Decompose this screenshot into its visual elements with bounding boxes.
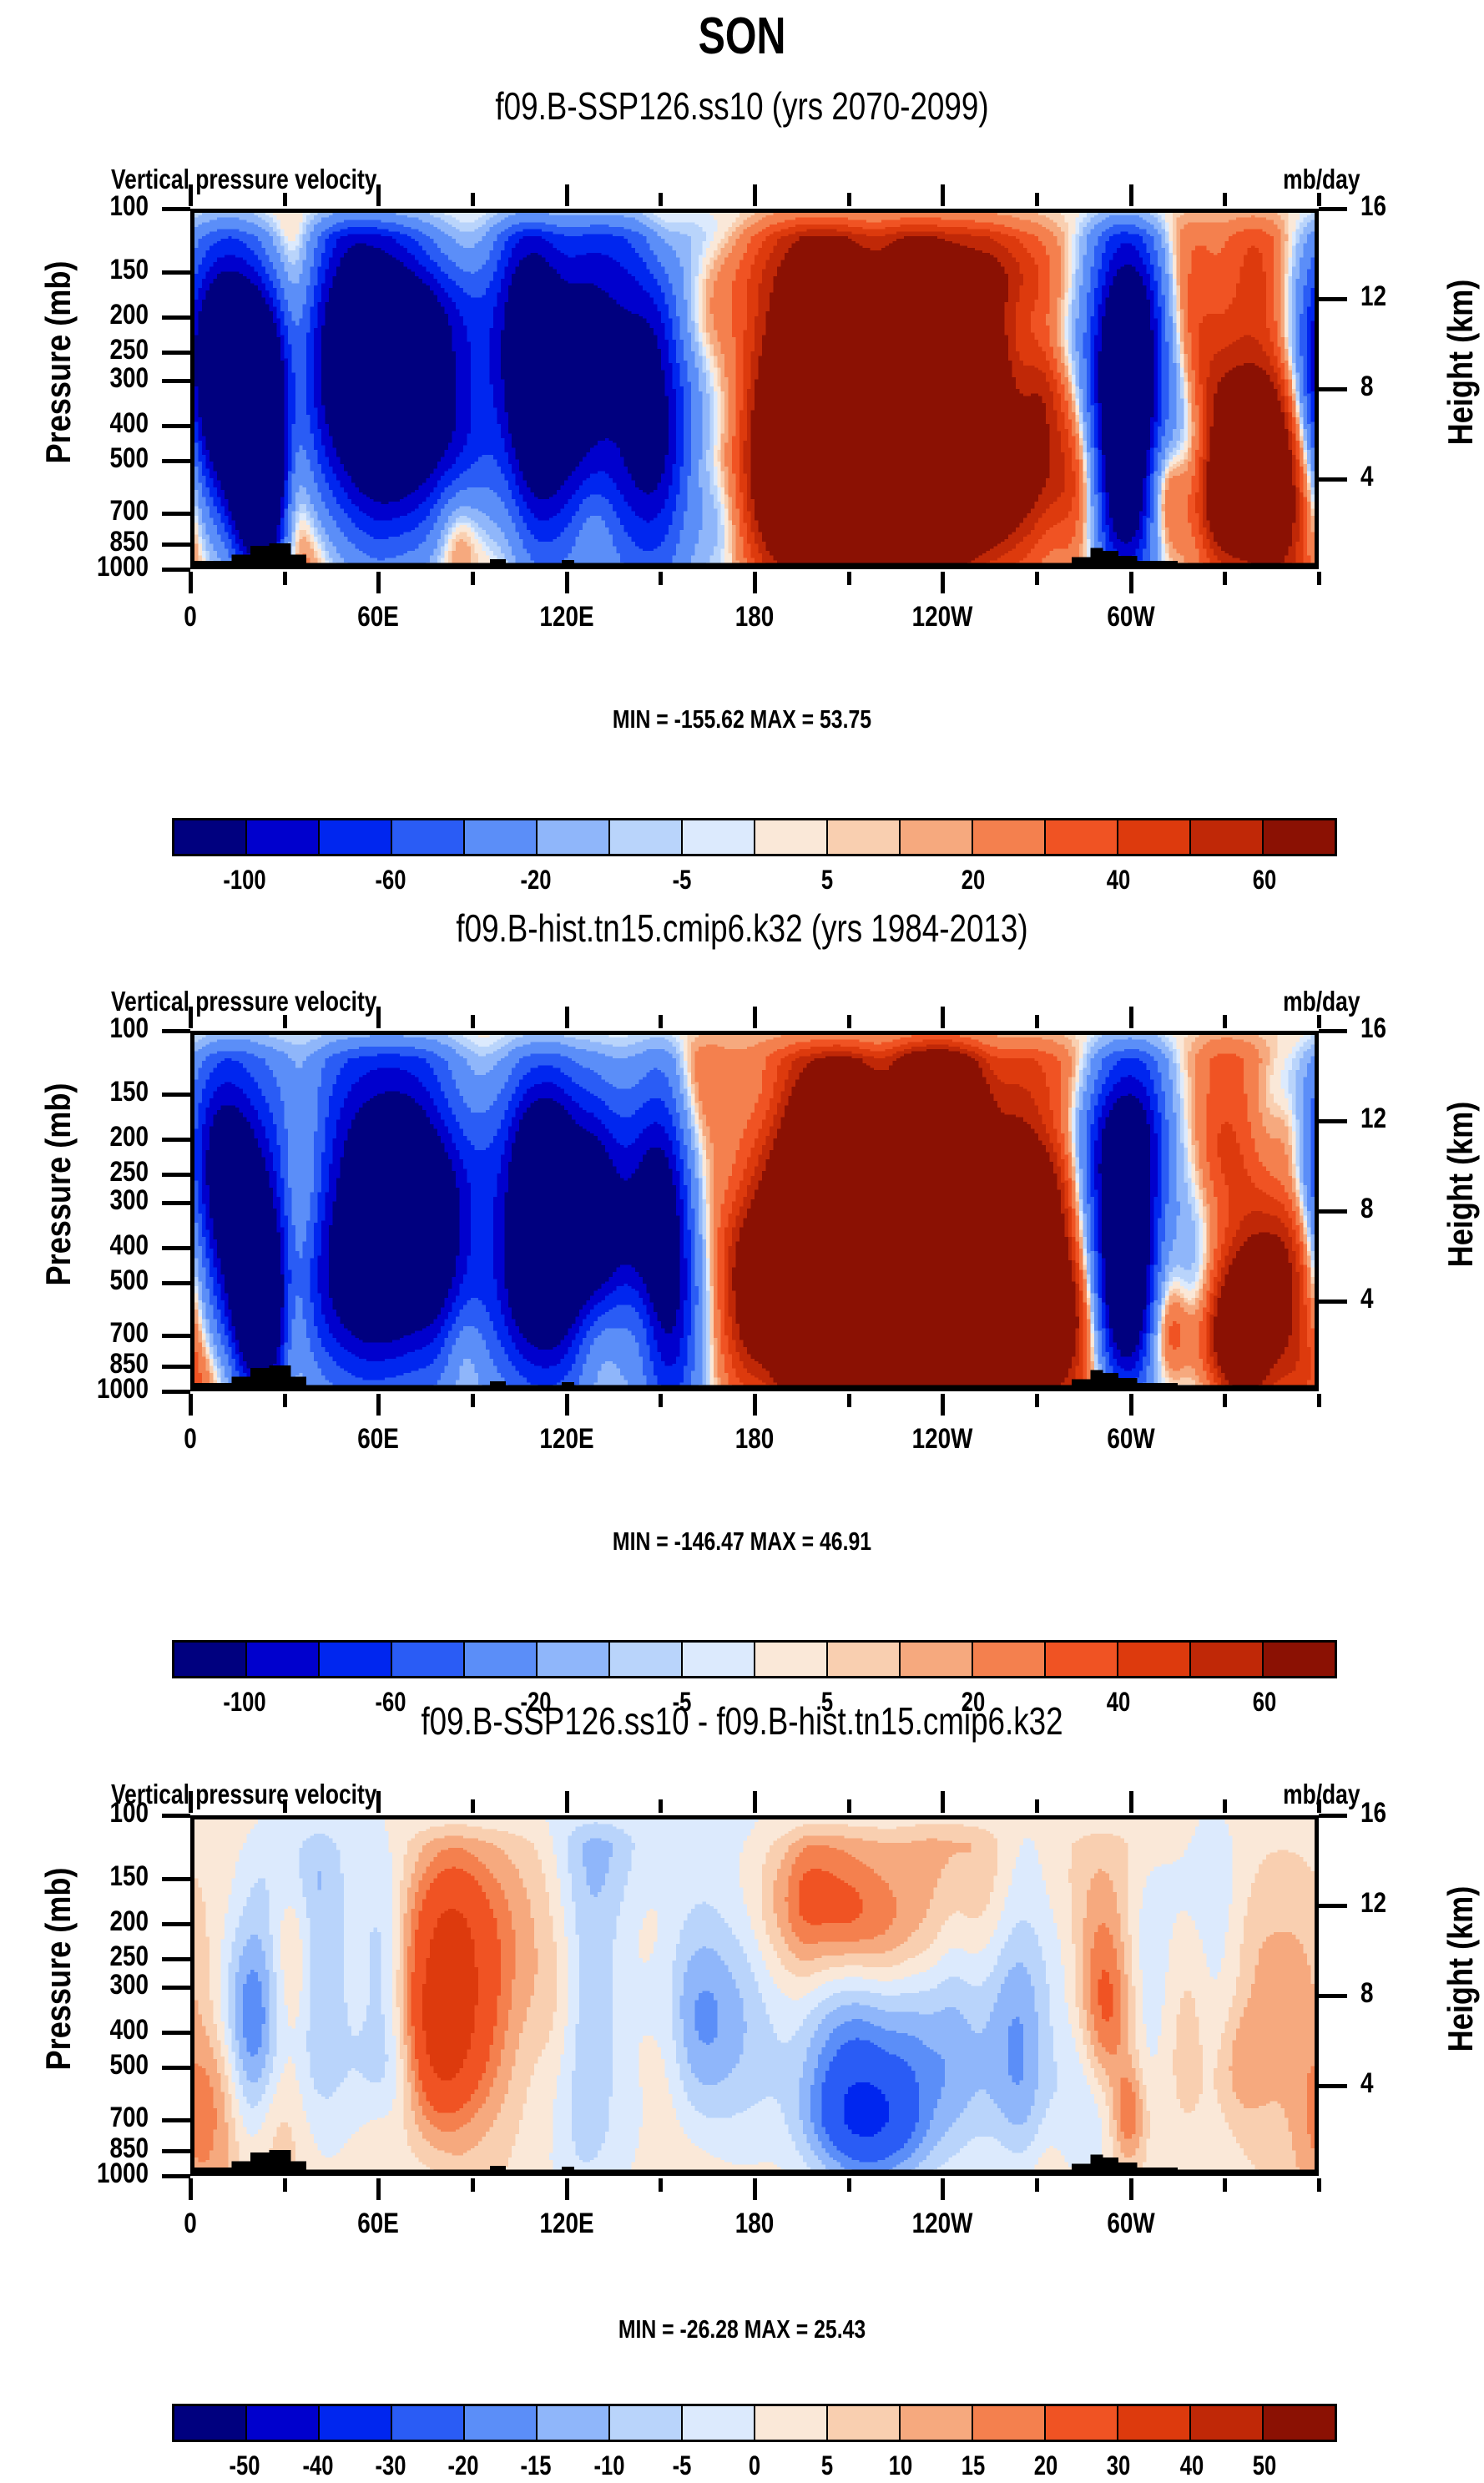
colorbar-cell [610,2406,683,2440]
x-tick-bottom [1317,572,1321,585]
y-tick-label: 300 [22,1184,149,1217]
colorbar-cell [465,2406,538,2440]
y-tick-label: 500 [22,442,149,475]
y-tick-label: 500 [22,1264,149,1297]
x-tick-label: 60E [310,2208,447,2240]
colorbar-cell [1264,2406,1335,2440]
y-tick [162,1093,190,1097]
colorbar-cell [320,2406,392,2440]
field-name-label: Vertical pressure velocity [111,1779,376,1810]
x-tick-bottom [941,1394,945,1416]
y2-tick-label: 8 [1360,1193,1436,1225]
panel-title: f09.B-SSP126.ss10 (yrs 2070-2099) [149,83,1335,129]
x-tick-top [1035,1799,1039,1813]
x-tick-bottom [847,572,851,585]
colorbar-cell [1046,1643,1118,1676]
colorbar-cell [1118,2406,1191,2440]
colorbar-panel-middle [172,1640,1337,1678]
colorbar-label: -100 [184,1687,305,1718]
colorbar-label: 20 [913,1687,1033,1718]
x-tick-bottom [471,572,475,585]
colorbar-cell [683,2406,755,2440]
y-tick [162,459,190,463]
min-max-caption: MIN = -146.47 MAX = 46.91 [149,1527,1335,1557]
y-tick [162,1246,190,1250]
x-tick-bottom [471,2178,475,2192]
y2-tick [1319,1904,1347,1908]
y-tick [162,2066,190,2070]
x-tick-label: 120W [874,601,1011,633]
field-name-label: Vertical pressure velocity [111,986,376,1017]
y-tick-label: 1000 [22,2157,149,2190]
colorbar-cell [828,2406,901,2440]
colorbar-cell [247,2406,320,2440]
y-tick-label: 250 [22,334,149,366]
y-tick [162,207,190,211]
y-tick-label: 400 [22,2014,149,2046]
x-tick-bottom [1129,1394,1133,1416]
colorbar-label: -20 [476,865,596,896]
x-tick-top [1129,1791,1133,1813]
y-tick [162,379,190,383]
y-tick [162,2118,190,2122]
x-tick-label: 180 [686,1423,823,1456]
y-tick [162,1365,190,1369]
x-tick-top [1317,193,1321,206]
y-tick [162,315,190,320]
x-tick-bottom [1317,1394,1321,1407]
x-tick-bottom [941,572,945,593]
y2-axis-title: Height (km) [1441,175,1481,548]
y-tick-label: 500 [22,2049,149,2082]
y-tick-label: 150 [22,254,149,286]
x-tick-top [847,1015,851,1028]
colorbar-panel-top [172,818,1337,856]
y2-tick [1319,1814,1347,1818]
y2-tick-label: 12 [1360,1103,1436,1135]
colorbar-cell [901,2406,973,2440]
y-tick-label: 150 [22,1860,149,1893]
colorbar-label: 40 [1058,1687,1179,1718]
colorbar-cell [901,820,973,854]
x-tick-bottom [1223,1394,1227,1407]
x-tick-top [471,1799,475,1813]
x-tick-top [1129,184,1133,206]
colorbar-cell [392,1643,465,1676]
colorbar-label: 5 [767,1687,887,1718]
x-tick-bottom [659,2178,663,2192]
y-tick-label: 1000 [22,1373,149,1406]
colorbar-cell [174,2406,247,2440]
y-tick [162,1814,190,1818]
colorbar-cell [320,820,392,854]
y-tick-label: 250 [22,1156,149,1189]
x-tick-bottom [1317,2178,1321,2192]
x-tick-bottom [753,1394,757,1416]
x-tick-top [1317,1015,1321,1028]
colorbar-label: -100 [184,865,305,896]
y2-tick-label: 4 [1360,1283,1436,1315]
x-tick-label: 0 [122,1423,259,1456]
y-tick-label: 200 [22,299,149,331]
y2-tick [1319,2084,1347,2088]
y-tick-label: 250 [22,1940,149,1973]
colorbar-cell [247,820,320,854]
x-tick-top [376,184,381,206]
x-tick-bottom [659,1394,663,1407]
x-tick-top [1317,1799,1321,1813]
panel-title: f09.B-hist.tn15.cmip6.k32 (yrs 1984-2013… [149,906,1335,951]
colorbar-cell [1191,1643,1264,1676]
min-max-caption: MIN = -26.28 MAX = 25.43 [149,2314,1335,2344]
x-tick-top [471,193,475,206]
colorbar-cell [973,2406,1046,2440]
y2-tick [1319,1300,1347,1304]
y2-tick-label: 16 [1360,190,1436,223]
x-tick-label: 0 [122,601,259,633]
y-tick-label: 100 [22,190,149,223]
x-tick-bottom [941,2178,945,2200]
units-label: mb/day [1284,1779,1360,1810]
colorbar-label: 20 [913,865,1033,896]
x-tick-label: 60E [310,601,447,633]
y-tick-label: 150 [22,1076,149,1108]
y-tick-label: 300 [22,1969,149,2001]
y2-tick-label: 16 [1360,1012,1436,1045]
x-tick-label: 120E [498,601,635,633]
x-tick-top [283,1799,287,1813]
x-tick-bottom [753,572,757,593]
x-tick-top [565,184,569,206]
y-tick [162,1986,190,1990]
x-tick-bottom [565,572,569,593]
colorbar-cell [1191,820,1264,854]
colorbar-cell [320,1643,392,1676]
x-tick-top [189,1791,193,1813]
y-tick [162,1029,190,1033]
x-tick-top [941,1007,945,1028]
y2-tick-label: 12 [1360,1887,1436,1920]
y-tick [162,543,190,547]
y2-tick [1319,1029,1347,1033]
x-tick-top [1035,1015,1039,1028]
x-tick-label: 60W [1063,601,1199,633]
x-tick-top [659,1015,663,1028]
x-tick-top [1035,193,1039,206]
y2-tick [1319,1209,1347,1214]
x-tick-bottom [1035,2178,1039,2192]
y-tick [162,2174,190,2178]
x-tick-bottom [189,572,193,593]
colorbar-label: 60 [1204,1687,1325,1718]
y-tick [162,1877,190,1881]
colorbar-cell [828,820,901,854]
x-tick-top [1223,1799,1227,1813]
colorbar-cell [1118,1643,1191,1676]
x-tick-label: 120E [498,2208,635,2240]
x-tick-top [941,184,945,206]
y-tick [162,1922,190,1926]
x-tick-label: 120W [874,1423,1011,1456]
y-tick-label: 1000 [22,551,149,583]
x-tick-top [1223,1015,1227,1028]
y-tick-label: 300 [22,362,149,395]
x-tick-label: 180 [686,2208,823,2240]
y2-tick [1319,387,1347,391]
colorbar-cell [465,1643,538,1676]
y2-tick-label: 16 [1360,1797,1436,1829]
colorbar-label: 50 [1211,2450,1318,2481]
y2-tick-label: 4 [1360,2067,1436,2100]
y-tick [162,568,190,572]
y-tick-label: 400 [22,407,149,440]
y-tick [162,512,190,516]
x-tick-bottom [471,1394,475,1407]
x-tick-label: 60E [310,1423,447,1456]
colorbar-cell [610,820,683,854]
y-tick [162,1334,190,1338]
y-tick-label: 200 [22,1905,149,1938]
y-tick [162,1138,190,1142]
y-tick-label: 200 [22,1121,149,1153]
y2-axis-title: Height (km) [1441,1782,1481,2155]
x-tick-bottom [283,1394,287,1407]
x-tick-bottom [1223,2178,1227,2192]
x-tick-top [565,1007,569,1028]
x-tick-top [189,1007,193,1028]
colorbar-cell [1118,820,1191,854]
colorbar-panel-bottom [172,2404,1337,2442]
x-tick-top [753,1007,757,1028]
colorbar-label: -5 [622,1687,742,1718]
colorbar-cell [1264,1643,1335,1676]
x-tick-bottom [847,2178,851,2192]
colorbar-cell [1264,820,1335,854]
x-tick-bottom [189,1394,193,1416]
colorbar-cell [247,1643,320,1676]
x-tick-top [659,1799,663,1813]
y-tick-label: 700 [22,2102,149,2134]
y-tick [162,1173,190,1177]
y2-tick-label: 4 [1360,461,1436,493]
x-tick-top [1223,193,1227,206]
y2-tick-label: 12 [1360,280,1436,313]
x-tick-bottom [659,572,663,585]
colorbar-cell [901,1643,973,1676]
colorbar-cell [755,820,828,854]
y-tick [162,2149,190,2153]
y2-tick [1319,477,1347,482]
x-tick-top [565,1791,569,1813]
x-tick-top [376,1791,381,1813]
x-tick-top [753,184,757,206]
y-tick-label: 400 [22,1229,149,1262]
units-label: mb/day [1284,986,1360,1017]
y-tick [162,1281,190,1285]
x-tick-top [471,1015,475,1028]
colorbar-label: -60 [331,1687,451,1718]
colorbar-cell [1046,2406,1118,2440]
colorbar-label: 40 [1058,865,1179,896]
x-tick-label: 180 [686,601,823,633]
colorbar-cell [465,820,538,854]
colorbar-label: -5 [622,865,742,896]
y2-tick [1319,207,1347,211]
y2-tick-label: 8 [1360,371,1436,403]
y2-tick-label: 8 [1360,1977,1436,2010]
x-tick-top [941,1791,945,1813]
colorbar-cell [610,1643,683,1676]
x-tick-bottom [189,2178,193,2200]
contour-plot-panel-middle [190,1031,1319,1391]
x-tick-top [753,1791,757,1813]
colorbar-cell [392,820,465,854]
y-tick-label: 700 [22,1317,149,1350]
x-tick-top [847,1799,851,1813]
x-tick-bottom [283,572,287,585]
figure-page: SON f09.B-SSP126.ss10 (yrs 2070-2099) Ve… [0,0,1484,2483]
x-tick-bottom [1129,2178,1133,2200]
x-tick-bottom [1035,572,1039,585]
units-label: mb/day [1284,164,1360,195]
x-tick-label: 0 [122,2208,259,2240]
y-tick [162,351,190,355]
colorbar-label: 5 [767,865,887,896]
colorbar-cell [538,1643,610,1676]
colorbar-cell [683,820,755,854]
x-tick-label: 60W [1063,1423,1199,1456]
x-tick-bottom [565,1394,569,1416]
x-tick-top [659,193,663,206]
x-tick-bottom [1035,1394,1039,1407]
contour-plot-panel-bottom [190,1815,1319,2176]
colorbar-label: 60 [1204,865,1325,896]
x-tick-label: 120W [874,2208,1011,2240]
x-tick-label: 60W [1063,2208,1199,2240]
colorbar-cell [174,820,247,854]
y-tick-label: 100 [22,1797,149,1829]
colorbar-cell [1046,820,1118,854]
y2-axis-title: Height (km) [1441,997,1481,1370]
colorbar-label: -60 [331,865,451,896]
contour-plot-panel-top [190,209,1319,569]
x-tick-bottom [376,2178,381,2200]
colorbar-label: -20 [476,1687,596,1718]
x-tick-top [376,1007,381,1028]
y-tick-label: 700 [22,495,149,527]
colorbar-cell [755,2406,828,2440]
x-tick-bottom [753,2178,757,2200]
field-name-label: Vertical pressure velocity [111,164,376,195]
min-max-caption: MIN = -155.62 MAX = 53.75 [149,704,1335,734]
season-title: SON [164,7,1321,66]
colorbar-cell [392,2406,465,2440]
x-tick-bottom [283,2178,287,2192]
y-tick-label: 100 [22,1012,149,1045]
colorbar-cell [1191,2406,1264,2440]
colorbar-cell [174,1643,247,1676]
x-tick-bottom [376,572,381,593]
x-tick-top [283,1015,287,1028]
y-tick [162,270,190,275]
x-tick-bottom [565,2178,569,2200]
colorbar-cell [683,1643,755,1676]
y2-tick [1319,1119,1347,1123]
x-tick-bottom [847,1394,851,1407]
y-tick [162,2031,190,2035]
x-tick-label: 120E [498,1423,635,1456]
y-tick [162,424,190,428]
colorbar-cell [538,820,610,854]
colorbar-cell [973,820,1046,854]
y-tick [162,1390,190,1394]
x-tick-top [847,193,851,206]
y-tick [162,1201,190,1205]
y2-tick [1319,1994,1347,1998]
x-tick-top [189,184,193,206]
x-tick-bottom [376,1394,381,1416]
colorbar-cell [973,1643,1046,1676]
x-tick-top [283,193,287,206]
colorbar-cell [755,1643,828,1676]
x-tick-top [1129,1007,1133,1028]
x-tick-bottom [1223,572,1227,585]
y2-tick [1319,297,1347,301]
colorbar-cell [538,2406,610,2440]
colorbar-cell [828,1643,901,1676]
x-tick-bottom [1129,572,1133,593]
y-tick [162,1957,190,1961]
